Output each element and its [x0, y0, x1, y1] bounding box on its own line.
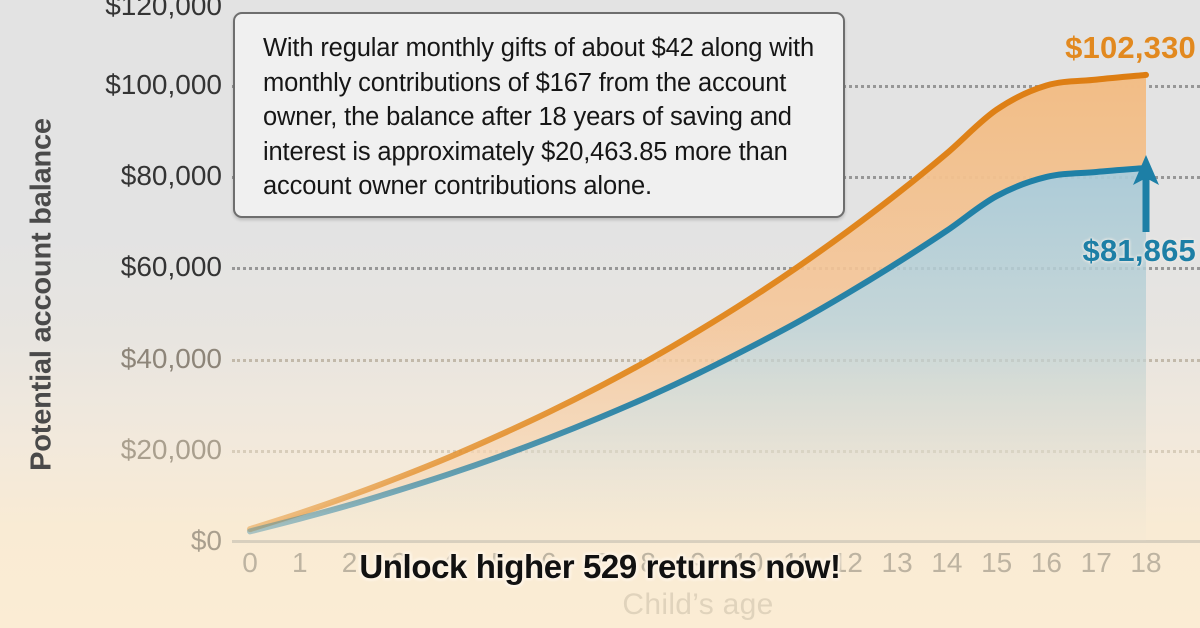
y-tick-60000: $60,000: [0, 253, 222, 281]
annotation-callout: With regular monthly gifts of about $42 …: [233, 12, 845, 218]
annotation-callout-text: With regular monthly gifts of about $42 …: [263, 31, 821, 204]
endpoint-label-owner-contributions: $81,865: [1083, 233, 1196, 269]
endpoint-label-with-gifts: $102,330: [1065, 30, 1196, 66]
y-axis-ticks: $120,000 $100,000 $80,000 $60,000 $40,00…: [0, 0, 222, 628]
cta-overlay-text[interactable]: Unlock higher 529 returns now!: [0, 548, 1200, 586]
y-tick-80000: $80,000: [0, 162, 222, 190]
y-tick-120000: $120,000: [0, 0, 222, 20]
chart-canvas: Potential account balance $120,000 $100,…: [0, 0, 1200, 628]
y-tick-100000: $100,000: [0, 71, 222, 99]
x-axis-title: Child’s age: [250, 588, 1146, 622]
y-tick-20000: $20,000: [0, 436, 222, 464]
y-tick-40000: $40,000: [0, 345, 222, 373]
